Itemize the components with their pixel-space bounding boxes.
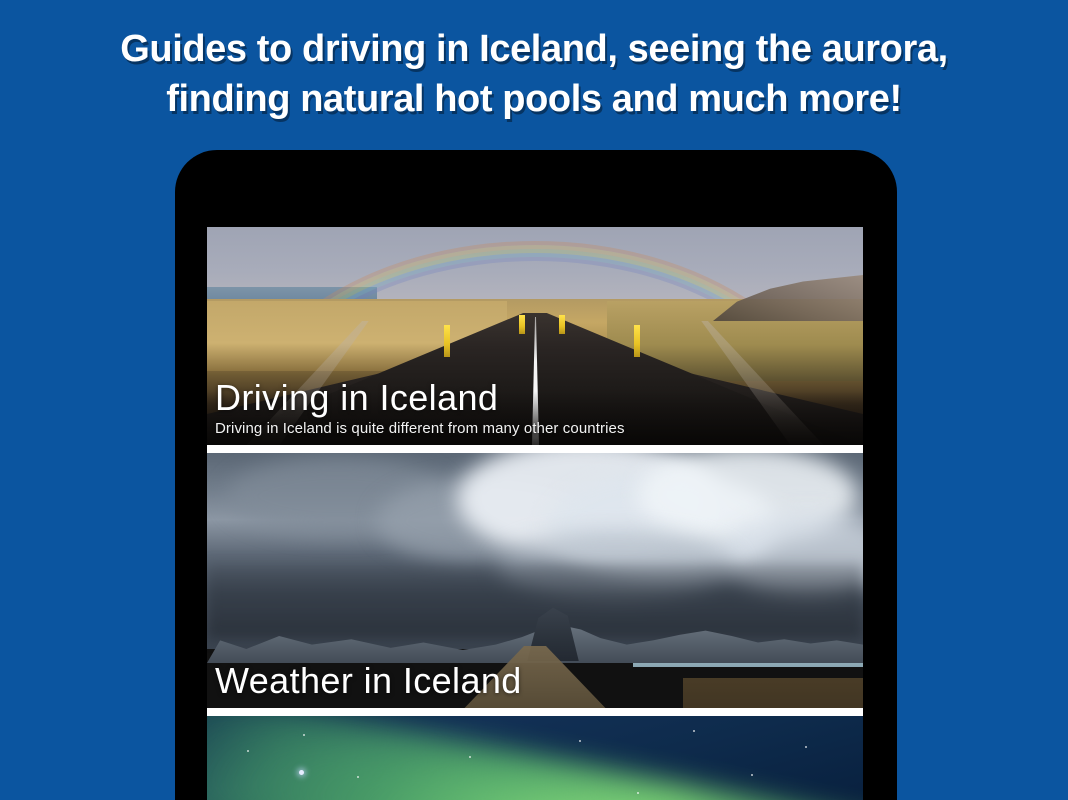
star: [637, 792, 639, 794]
tablet-device-frame: Driving in Iceland Driving in Iceland is…: [175, 150, 897, 800]
star: [303, 734, 305, 736]
headline-line-2: finding natural hot pools and much more!: [0, 74, 1068, 124]
star: [247, 750, 249, 752]
headline-line-1: Guides to driving in Iceland, seeing the…: [0, 24, 1068, 74]
marker-post: [519, 315, 525, 334]
tablet-screen: Driving in Iceland Driving in Iceland is…: [207, 227, 863, 800]
rain-band: [207, 563, 863, 639]
card-text-block: Weather in Iceland: [207, 660, 863, 708]
promo-screenshot: Guides to driving in Iceland, seeing the…: [0, 0, 1068, 800]
marker-post: [444, 325, 450, 357]
guide-card-list[interactable]: Driving in Iceland Driving in Iceland is…: [207, 227, 863, 800]
star: [357, 776, 359, 778]
guide-card-driving[interactable]: Driving in Iceland Driving in Iceland is…: [207, 227, 863, 445]
guide-card-weather[interactable]: Weather in Iceland: [207, 453, 863, 708]
aurora-photo: [207, 716, 863, 800]
card-title: Driving in Iceland: [215, 377, 863, 419]
promo-headline: Guides to driving in Iceland, seeing the…: [0, 24, 1068, 124]
marker-post: [559, 315, 565, 334]
star: [469, 756, 471, 758]
star: [805, 746, 807, 748]
bright-star: [299, 770, 304, 775]
star: [579, 740, 581, 742]
card-text-block: Driving in Iceland Driving in Iceland is…: [207, 377, 863, 445]
marker-post: [634, 325, 640, 357]
star: [751, 774, 753, 776]
star: [693, 730, 695, 732]
card-subtitle: Driving in Iceland is quite different fr…: [215, 419, 863, 439]
card-title: Weather in Iceland: [215, 660, 863, 702]
guide-card-aurora[interactable]: [207, 716, 863, 800]
